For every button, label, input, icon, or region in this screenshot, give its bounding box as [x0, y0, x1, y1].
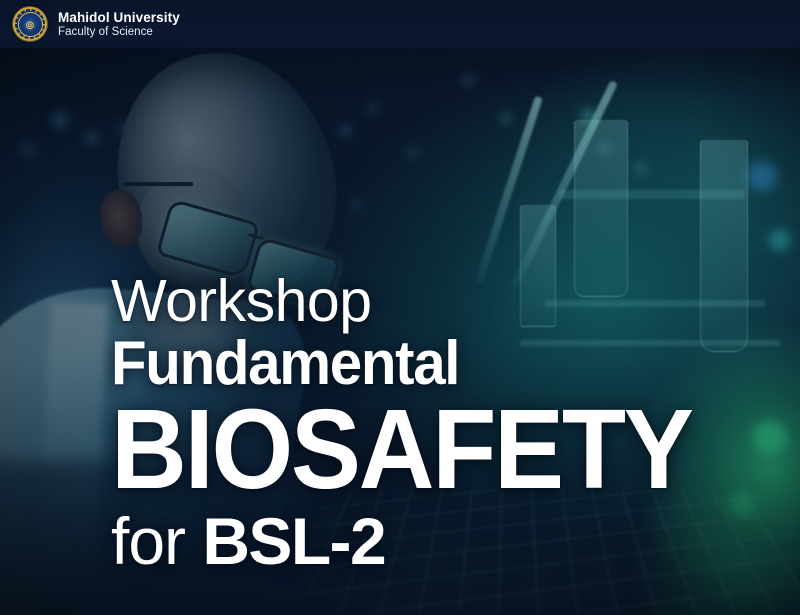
bokeh-light	[581, 109, 595, 123]
lab-shelf-bar	[560, 190, 745, 199]
bokeh-light	[753, 421, 787, 455]
bokeh-light	[769, 229, 791, 251]
bokeh-light	[462, 74, 474, 86]
bokeh-light	[501, 113, 511, 123]
brand-header-bar: ๏ Mahidol University Faculty of Science	[0, 0, 800, 48]
workshop-promo-poster: ๏ Mahidol University Faculty of Science …	[0, 0, 800, 615]
organization-name: Mahidol University	[58, 10, 180, 25]
bokeh-light	[747, 161, 777, 191]
faculty-name: Faculty of Science	[58, 26, 180, 39]
glass-rod-1	[510, 80, 618, 290]
title-line-workshop: Workshop	[111, 272, 735, 331]
seal-notch-ring	[14, 8, 46, 40]
title-line-biosafety: BIOSAFETY	[111, 393, 691, 506]
eyeglasses-temple	[123, 182, 193, 186]
title-bsl-code: BSL-2	[202, 504, 385, 578]
brand-text-group: Mahidol University Faculty of Science	[58, 10, 180, 39]
panel-seam-4	[748, 0, 749, 615]
glass-cylinder-1	[574, 120, 628, 297]
glass-rod-2	[475, 96, 543, 284]
bokeh-light	[635, 163, 646, 174]
bokeh-light	[600, 144, 609, 153]
title-line-bsl: for BSL-2	[111, 508, 735, 574]
title-bsl-prefix: for	[111, 504, 202, 578]
poster-title-block: Workshop Fundamental BIOSAFETY for BSL-2	[111, 272, 735, 574]
mahidol-university-seal-icon: ๏	[13, 7, 47, 41]
